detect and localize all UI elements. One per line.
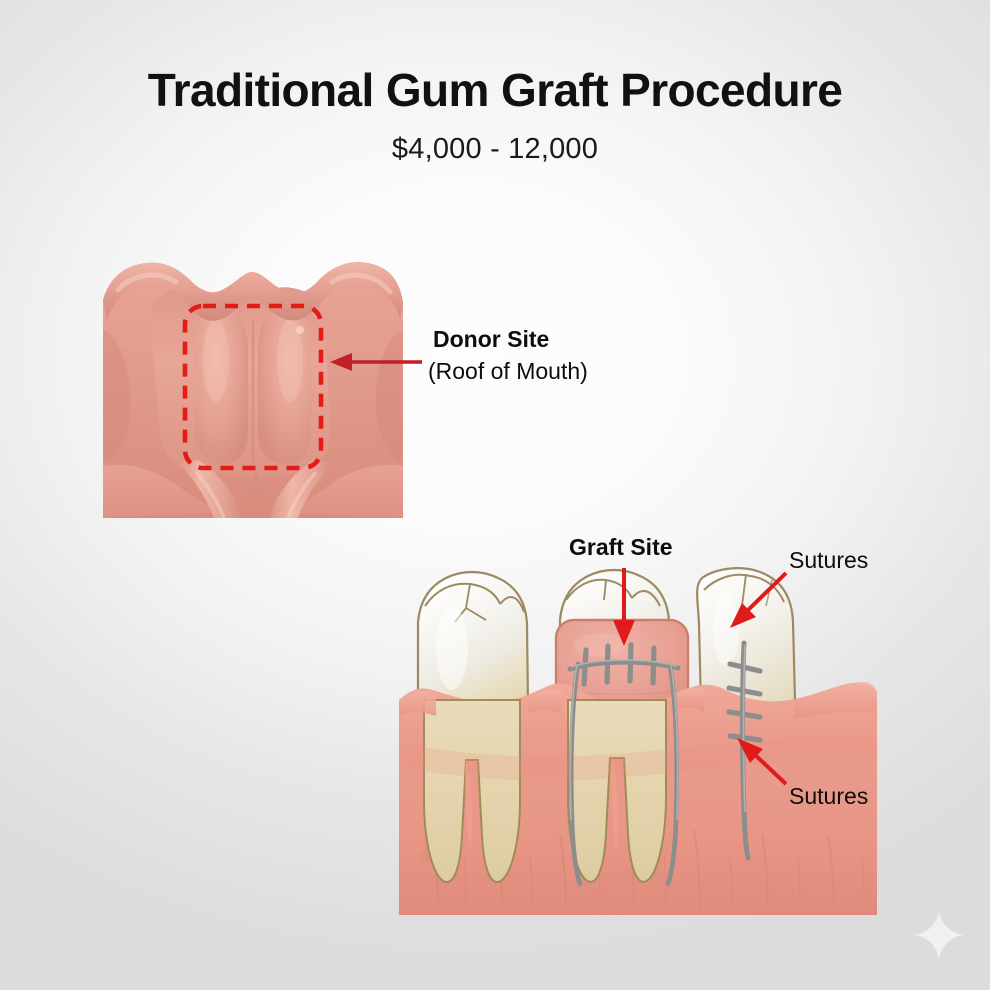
sutures-lower-label: Sutures (789, 783, 868, 810)
price-subtitle: $4,000 - 12,000 (0, 133, 990, 166)
sutures-upper-label: Sutures (789, 547, 868, 574)
tooth-middle (556, 570, 688, 882)
sutures-right-tooth (729, 643, 760, 858)
sutures-lower-arrow (737, 738, 786, 784)
graft-site-arrow (613, 568, 635, 646)
sutures-upper-arrow (730, 573, 786, 628)
donor-site-dashed-marker (185, 306, 321, 468)
tooth-left (418, 572, 528, 882)
tooth-right (697, 568, 795, 742)
donor-site-label: Donor Site (433, 326, 549, 353)
page-title: Traditional Gum Graft Procedure (0, 66, 990, 116)
graft-site-label: Graft Site (569, 534, 673, 561)
roof-of-mouth-illustration (103, 262, 403, 518)
donor-site-arrow (330, 353, 422, 371)
sutures-graft (570, 645, 678, 884)
donor-site-sublabel: (Roof of Mouth) (428, 358, 588, 385)
graft-patch (556, 620, 688, 722)
sparkle-icon (912, 908, 966, 962)
infographic-poster: Traditional Gum Graft Procedure $4,000 -… (0, 0, 990, 990)
gum-graft-teeth-illustration (399, 568, 877, 915)
